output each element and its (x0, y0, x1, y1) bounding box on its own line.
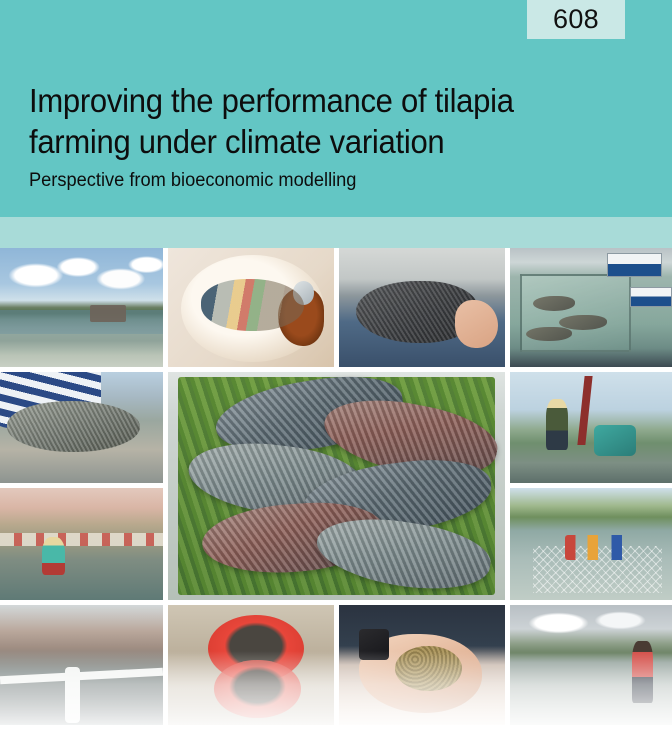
steamed-tilapia-dish-image (168, 248, 334, 367)
page-subtitle: Perspective from bioeconomic modelling (29, 170, 624, 193)
photo-tile-steamed-tilapia-dish (168, 248, 334, 367)
feed-pellets-image (339, 605, 505, 725)
photo-tile-red-sieve-fingerlings (168, 605, 334, 725)
worker-at-pond-image (510, 605, 672, 725)
person-holding-tilapia-image (0, 372, 163, 483)
red-sieve-fingerlings-image (168, 605, 334, 725)
report-number-text: 608 (553, 6, 599, 33)
harvest-crane-image (510, 372, 672, 483)
photo-tile-worker-at-pond (510, 605, 672, 725)
tank-fish (533, 296, 575, 311)
photo-mosaic (0, 248, 672, 715)
sauce-pool (278, 288, 324, 345)
page-title: Improving the performance of tilapia far… (29, 80, 612, 163)
indoor-raceway-image (0, 605, 163, 725)
photo-tile-pond-landscape (0, 248, 163, 367)
seine-crew (565, 535, 640, 560)
seine-netting-image (510, 488, 672, 600)
hatchery-tanks-image (0, 488, 163, 600)
hands-holding-tilapia-image (339, 248, 505, 367)
mint-divider-band (0, 217, 672, 248)
page-title-line-1: Improving the performance of tilapia (29, 80, 612, 121)
price-sign-upper (607, 253, 662, 277)
cover-header: 608 Improving the performance of tilapia… (0, 0, 672, 217)
page-title-line-2: farming under climate variation (29, 121, 612, 162)
photo-tile-harvest-crane (510, 372, 672, 483)
tank-fish (526, 327, 571, 341)
crate-of-tilapia-image (168, 372, 505, 600)
retail-aquarium-image (510, 248, 672, 367)
report-cover: 608 Improving the performance of tilapia… (0, 0, 672, 750)
photo-tile-person-holding-tilapia (0, 372, 163, 483)
price-sign-lower (630, 287, 672, 307)
photo-tile-indoor-raceway (0, 605, 163, 725)
crane-worker (546, 399, 569, 450)
photo-tile-retail-aquarium (510, 248, 672, 367)
photo-tile-hands-holding-tilapia (339, 248, 505, 367)
spoon-icon (293, 281, 315, 305)
wristwatch (359, 629, 389, 660)
photo-tile-feed-pellets (339, 605, 505, 725)
report-number-badge: 608 (527, 0, 625, 39)
photo-tile-seine-netting (510, 488, 672, 600)
photo-tile-crate-of-tilapia (168, 372, 505, 600)
pond-landscape-image (0, 248, 163, 367)
photo-tile-hatchery-tanks (0, 488, 163, 600)
